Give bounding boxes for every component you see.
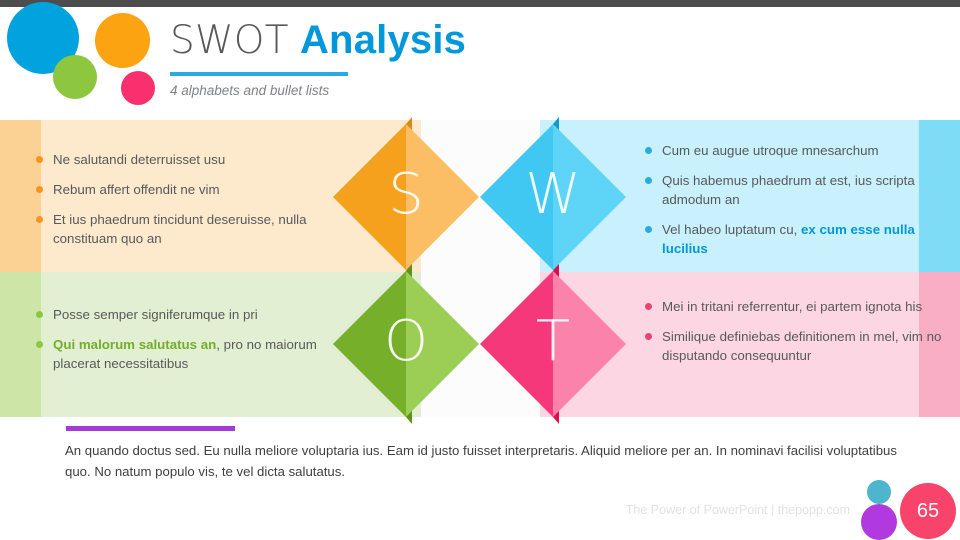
- list-item-label: Vel habeo luptatum cu, ex cum esse nulla…: [662, 220, 945, 258]
- bullet-dot: [645, 147, 652, 154]
- bullet-dot: [36, 156, 43, 163]
- swot-analysis-slide: SWOT Analysis 4 alphabets and bullet lis…: [0, 0, 960, 540]
- bullet-dot: [645, 333, 652, 340]
- list-item: Quis habemus phaedrum at est, ius script…: [645, 171, 945, 209]
- list-item: Cum eu augue utroque mnesarchum: [645, 141, 945, 160]
- list-item-label: Posse semper signiferumque in pri: [53, 305, 258, 324]
- list-item: Rebum affert offendit ne vim: [36, 180, 336, 199]
- brand-credit: The Power of PowerPoint | thepopp.com: [610, 503, 850, 517]
- list-item: Posse semper signiferumque in pri: [36, 305, 336, 324]
- list-item-label: Ne salutandi deterruisset usu: [53, 150, 225, 169]
- bullet-dot: [645, 177, 652, 184]
- bullet-list-weaknesses: Cum eu augue utroque mnesarchumQuis habe…: [645, 141, 945, 269]
- decor-circle-teal: [867, 480, 891, 504]
- list-item: Mei in tritani referrentur, ei partem ig…: [645, 297, 945, 316]
- bullet-dot: [645, 303, 652, 310]
- list-item: Et ius phaedrum tincidunt deseruisse, nu…: [36, 210, 336, 248]
- list-item: Ne salutandi deterruisset usu: [36, 150, 336, 169]
- bullet-dot: [36, 341, 43, 348]
- edge-strip-opportunities: [0, 272, 41, 417]
- diamond-opportunities[interactable]: O: [333, 271, 479, 417]
- list-item-label: Mei in tritani referrentur, ei partem ig…: [662, 297, 922, 316]
- diamond-weaknesses[interactable]: W: [480, 124, 626, 270]
- list-item-label: Cum eu augue utroque mnesarchum: [662, 141, 879, 160]
- list-item-label: Similique definiebas definitionem in mel…: [662, 327, 945, 365]
- bullet-dot: [645, 226, 652, 233]
- bullet-dot: [36, 311, 43, 318]
- list-item-label: Rebum affert offendit ne vim: [53, 180, 220, 199]
- bullet-list-strengths: Ne salutandi deterruisset usuRebum affer…: [36, 150, 336, 259]
- decor-circle-orange: [95, 13, 150, 68]
- list-item: Qui malorum salutatus an, pro no maiorum…: [36, 335, 336, 373]
- top-accent-bar: [0, 0, 960, 7]
- list-item-label: Et ius phaedrum tincidunt deseruisse, nu…: [53, 210, 336, 248]
- emphasis-text: ex cum esse nulla lucilius: [662, 222, 915, 256]
- page-number-label: 65: [900, 483, 956, 539]
- diamond-strengths[interactable]: S: [333, 124, 479, 270]
- edge-strip-strengths: [0, 120, 41, 272]
- title-swot: SWOT: [170, 18, 289, 63]
- list-item-label: Quis habemus phaedrum at est, ius script…: [662, 171, 945, 209]
- title-underline: [170, 72, 348, 76]
- decor-circle-green: [53, 55, 97, 99]
- decor-circle-purple: [861, 504, 897, 540]
- bullet-dot: [36, 216, 43, 223]
- decor-circle-pink: [121, 71, 155, 105]
- list-item: Similique definiebas definitionem in mel…: [645, 327, 945, 365]
- footer-body-text: An quando doctus sed. Eu nulla meliore v…: [65, 440, 897, 482]
- slide-header: SWOT Analysis 4 alphabets and bullet lis…: [170, 14, 466, 98]
- emphasis-text: Qui malorum salutatus an: [53, 337, 216, 352]
- bullet-dot: [36, 186, 43, 193]
- list-item-label: Qui malorum salutatus an, pro no maiorum…: [53, 335, 336, 373]
- diamond-threats[interactable]: T: [480, 271, 626, 417]
- page-title: SWOT Analysis: [170, 14, 466, 67]
- page-subtitle: 4 alphabets and bullet lists: [170, 83, 466, 98]
- title-analysis: Analysis: [300, 18, 466, 62]
- bullet-list-opportunities: Posse semper signiferumque in priQui mal…: [36, 305, 336, 384]
- list-item: Vel habeo luptatum cu, ex cum esse nulla…: [645, 220, 945, 258]
- bullet-list-threats: Mei in tritani referrentur, ei partem ig…: [645, 297, 945, 376]
- footer-accent-rule: [66, 426, 235, 431]
